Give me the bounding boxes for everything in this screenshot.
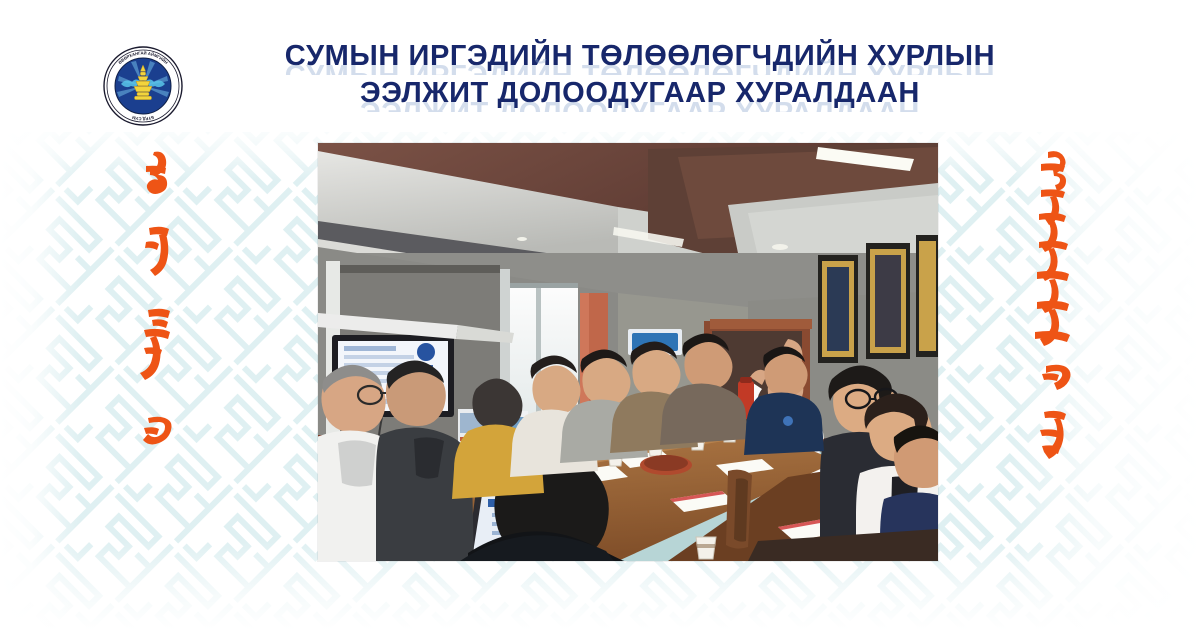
mongol-bichig-left — [108, 150, 204, 480]
title-line-1: СУМЫН ИРГЭДИЙН ТӨЛӨӨЛӨГЧДИЙН ХУРЛЫН — [200, 38, 1080, 75]
presentation-slide: ӨВӨРХАНГАЙ АЙМГИЙН БҮРД СУМ СУМЫН ИРГЭДИ… — [0, 0, 1200, 630]
slide-header: ӨВӨРХАНГАЙ АЙМГИЙН БҮРД СУМ СУМЫН ИРГЭДИ… — [0, 0, 1200, 132]
session-photograph: Хуралдааны танхимд суусан төлөөлөгчид — [318, 143, 938, 561]
mongol-bichig-right — [1008, 150, 1104, 480]
burd-sum-emblem-icon: ӨВӨРХАНГАЙ АЙМГИЙН БҮРД СУМ — [103, 46, 183, 126]
page-title: СУМЫН ИРГЭДИЙН ТӨЛӨӨЛӨГЧДИЙН ХУРЛЫН ЭЭЛЖ… — [200, 38, 1080, 112]
title-line-2: ЭЭЛЖИТ ДОЛООДУГААР ХУРАЛДААН — [200, 75, 1080, 112]
